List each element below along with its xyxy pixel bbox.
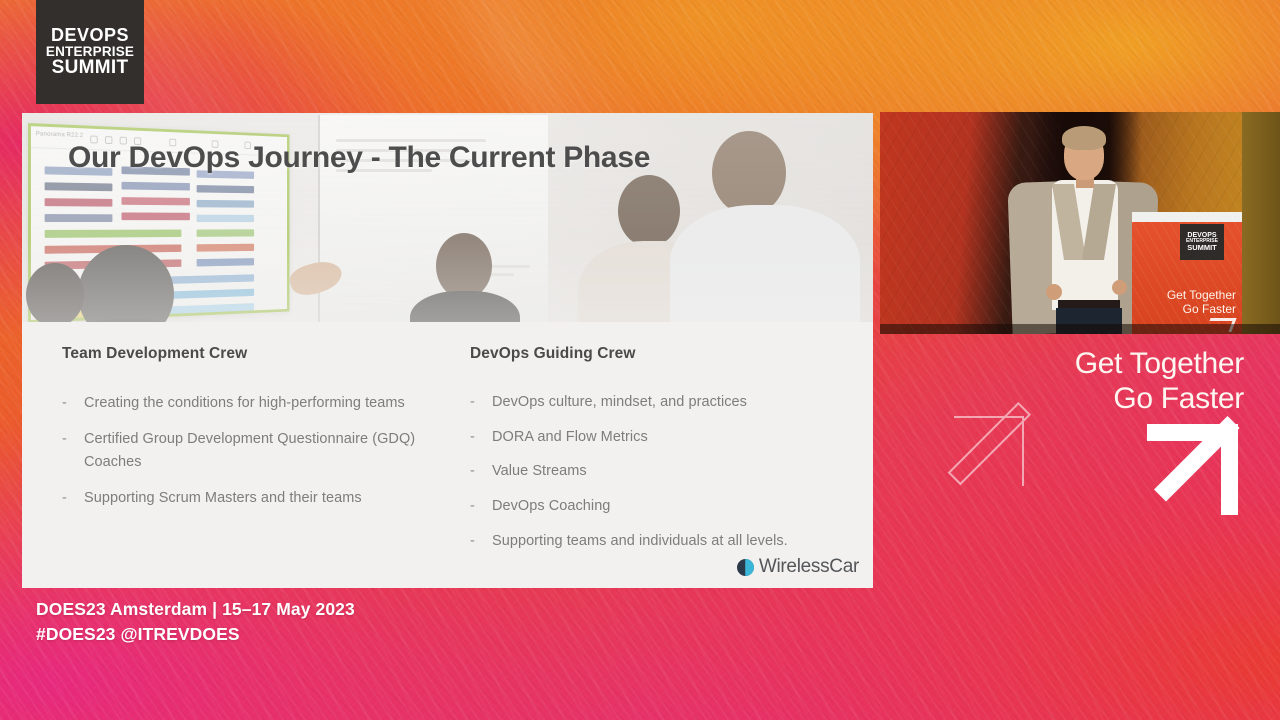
podium-logo-line-3: SUMMIT: [1186, 244, 1218, 252]
bullet-marker: -: [470, 460, 492, 484]
list-item: - Certified Group Development Questionna…: [62, 428, 466, 475]
list-item: - Supporting teams and individuals at al…: [470, 530, 847, 554]
bullet-text: Creating the conditions for high-perform…: [84, 392, 466, 416]
list-item: - Value Streams: [470, 460, 847, 484]
bullet-text: DevOps culture, mindset, and practices: [492, 391, 847, 415]
bullet-marker: -: [470, 426, 492, 450]
bullet-text: DevOps Coaching: [492, 495, 847, 519]
wirelesscar-mark-icon: [737, 559, 754, 576]
presentation-slide: Panorama R22.2: [22, 113, 873, 588]
caption-line-2: #DOES23 @ITREVDOES: [36, 622, 355, 647]
bullet-marker: -: [62, 428, 84, 475]
column-heading: DevOps Guiding Crew: [470, 345, 847, 363]
podium-tagline: Get Together Go Faster: [1132, 288, 1236, 316]
slide-column-devops-guiding-crew: DevOps Guiding Crew - DevOps culture, mi…: [466, 345, 847, 588]
podium-tagline-line-1: Get Together: [1132, 288, 1236, 302]
podium: DEVOPS ENTERPRISE SUMMIT Get Together Go…: [1132, 212, 1242, 334]
caption-line-1: DOES23 Amsterdam | 15–17 May 2023: [36, 597, 355, 622]
bullet-text: DORA and Flow Metrics: [492, 426, 847, 450]
bullet-text: Supporting teams and individuals at all …: [492, 530, 847, 554]
event-caption: DOES23 Amsterdam | 15–17 May 2023 #DOES2…: [36, 597, 355, 647]
arrow-up-right-icon: [1164, 424, 1238, 498]
wirelesscar-sponsor-logo: WirelessCar: [737, 556, 859, 578]
list-item: - DevOps culture, mindset, and practices: [470, 391, 847, 415]
bullet-marker: -: [470, 495, 492, 519]
arrow-outline-icon: [956, 416, 1024, 484]
logo-line-3: SUMMIT: [46, 58, 134, 77]
slide-title: Our DevOps Journey - The Current Phase: [68, 141, 650, 175]
bullet-marker: -: [62, 392, 84, 416]
list-item: - Supporting Scrum Masters and their tea…: [62, 487, 466, 511]
event-branding-block: Get Together Go Faster: [940, 340, 1260, 540]
bullet-list: - Creating the conditions for high-perfo…: [62, 392, 466, 511]
tagline-line-2: Go Faster: [1075, 381, 1244, 416]
bullet-list: - DevOps culture, mindset, and practices…: [470, 391, 847, 553]
logo-line-1: DEVOPS: [46, 26, 134, 44]
event-tagline: Get Together Go Faster: [1075, 346, 1244, 416]
bullet-marker: -: [62, 487, 84, 511]
bullet-marker: -: [470, 391, 492, 415]
podium-tagline-line-2: Go Faster: [1132, 302, 1236, 316]
list-item: - Creating the conditions for high-perfo…: [62, 392, 466, 416]
podium-summit-logo: DEVOPS ENTERPRISE SUMMIT: [1180, 224, 1224, 260]
speaker-hand-left: [1046, 284, 1062, 300]
list-item: - DORA and Flow Metrics: [470, 426, 847, 450]
speaker-hand-right: [1112, 280, 1127, 295]
bullet-text: Supporting Scrum Masters and their teams: [84, 487, 466, 511]
speaker-hair: [1062, 126, 1106, 150]
wirelesscar-wordmark: WirelessCar: [759, 556, 859, 578]
video-stage-floor: [880, 324, 1280, 334]
devops-enterprise-summit-logo: DEVOPS ENTERPRISE SUMMIT: [36, 0, 144, 104]
slide-body: Team Development Crew - Creating the con…: [22, 322, 873, 588]
list-item: - DevOps Coaching: [470, 495, 847, 519]
bullet-marker: -: [470, 530, 492, 554]
column-heading: Team Development Crew: [62, 345, 466, 363]
speaker-video-panel[interactable]: DEVOPS ENTERPRISE SUMMIT Get Together Go…: [880, 112, 1280, 334]
slide-column-team-development-crew: Team Development Crew - Creating the con…: [62, 345, 466, 588]
logo-line-2: ENTERPRISE: [46, 45, 134, 59]
bullet-text: Value Streams: [492, 460, 847, 484]
tagline-line-1: Get Together: [1075, 346, 1244, 381]
bullet-text: Certified Group Development Questionnair…: [84, 428, 466, 475]
video-stage-right-wall: [1242, 112, 1280, 334]
